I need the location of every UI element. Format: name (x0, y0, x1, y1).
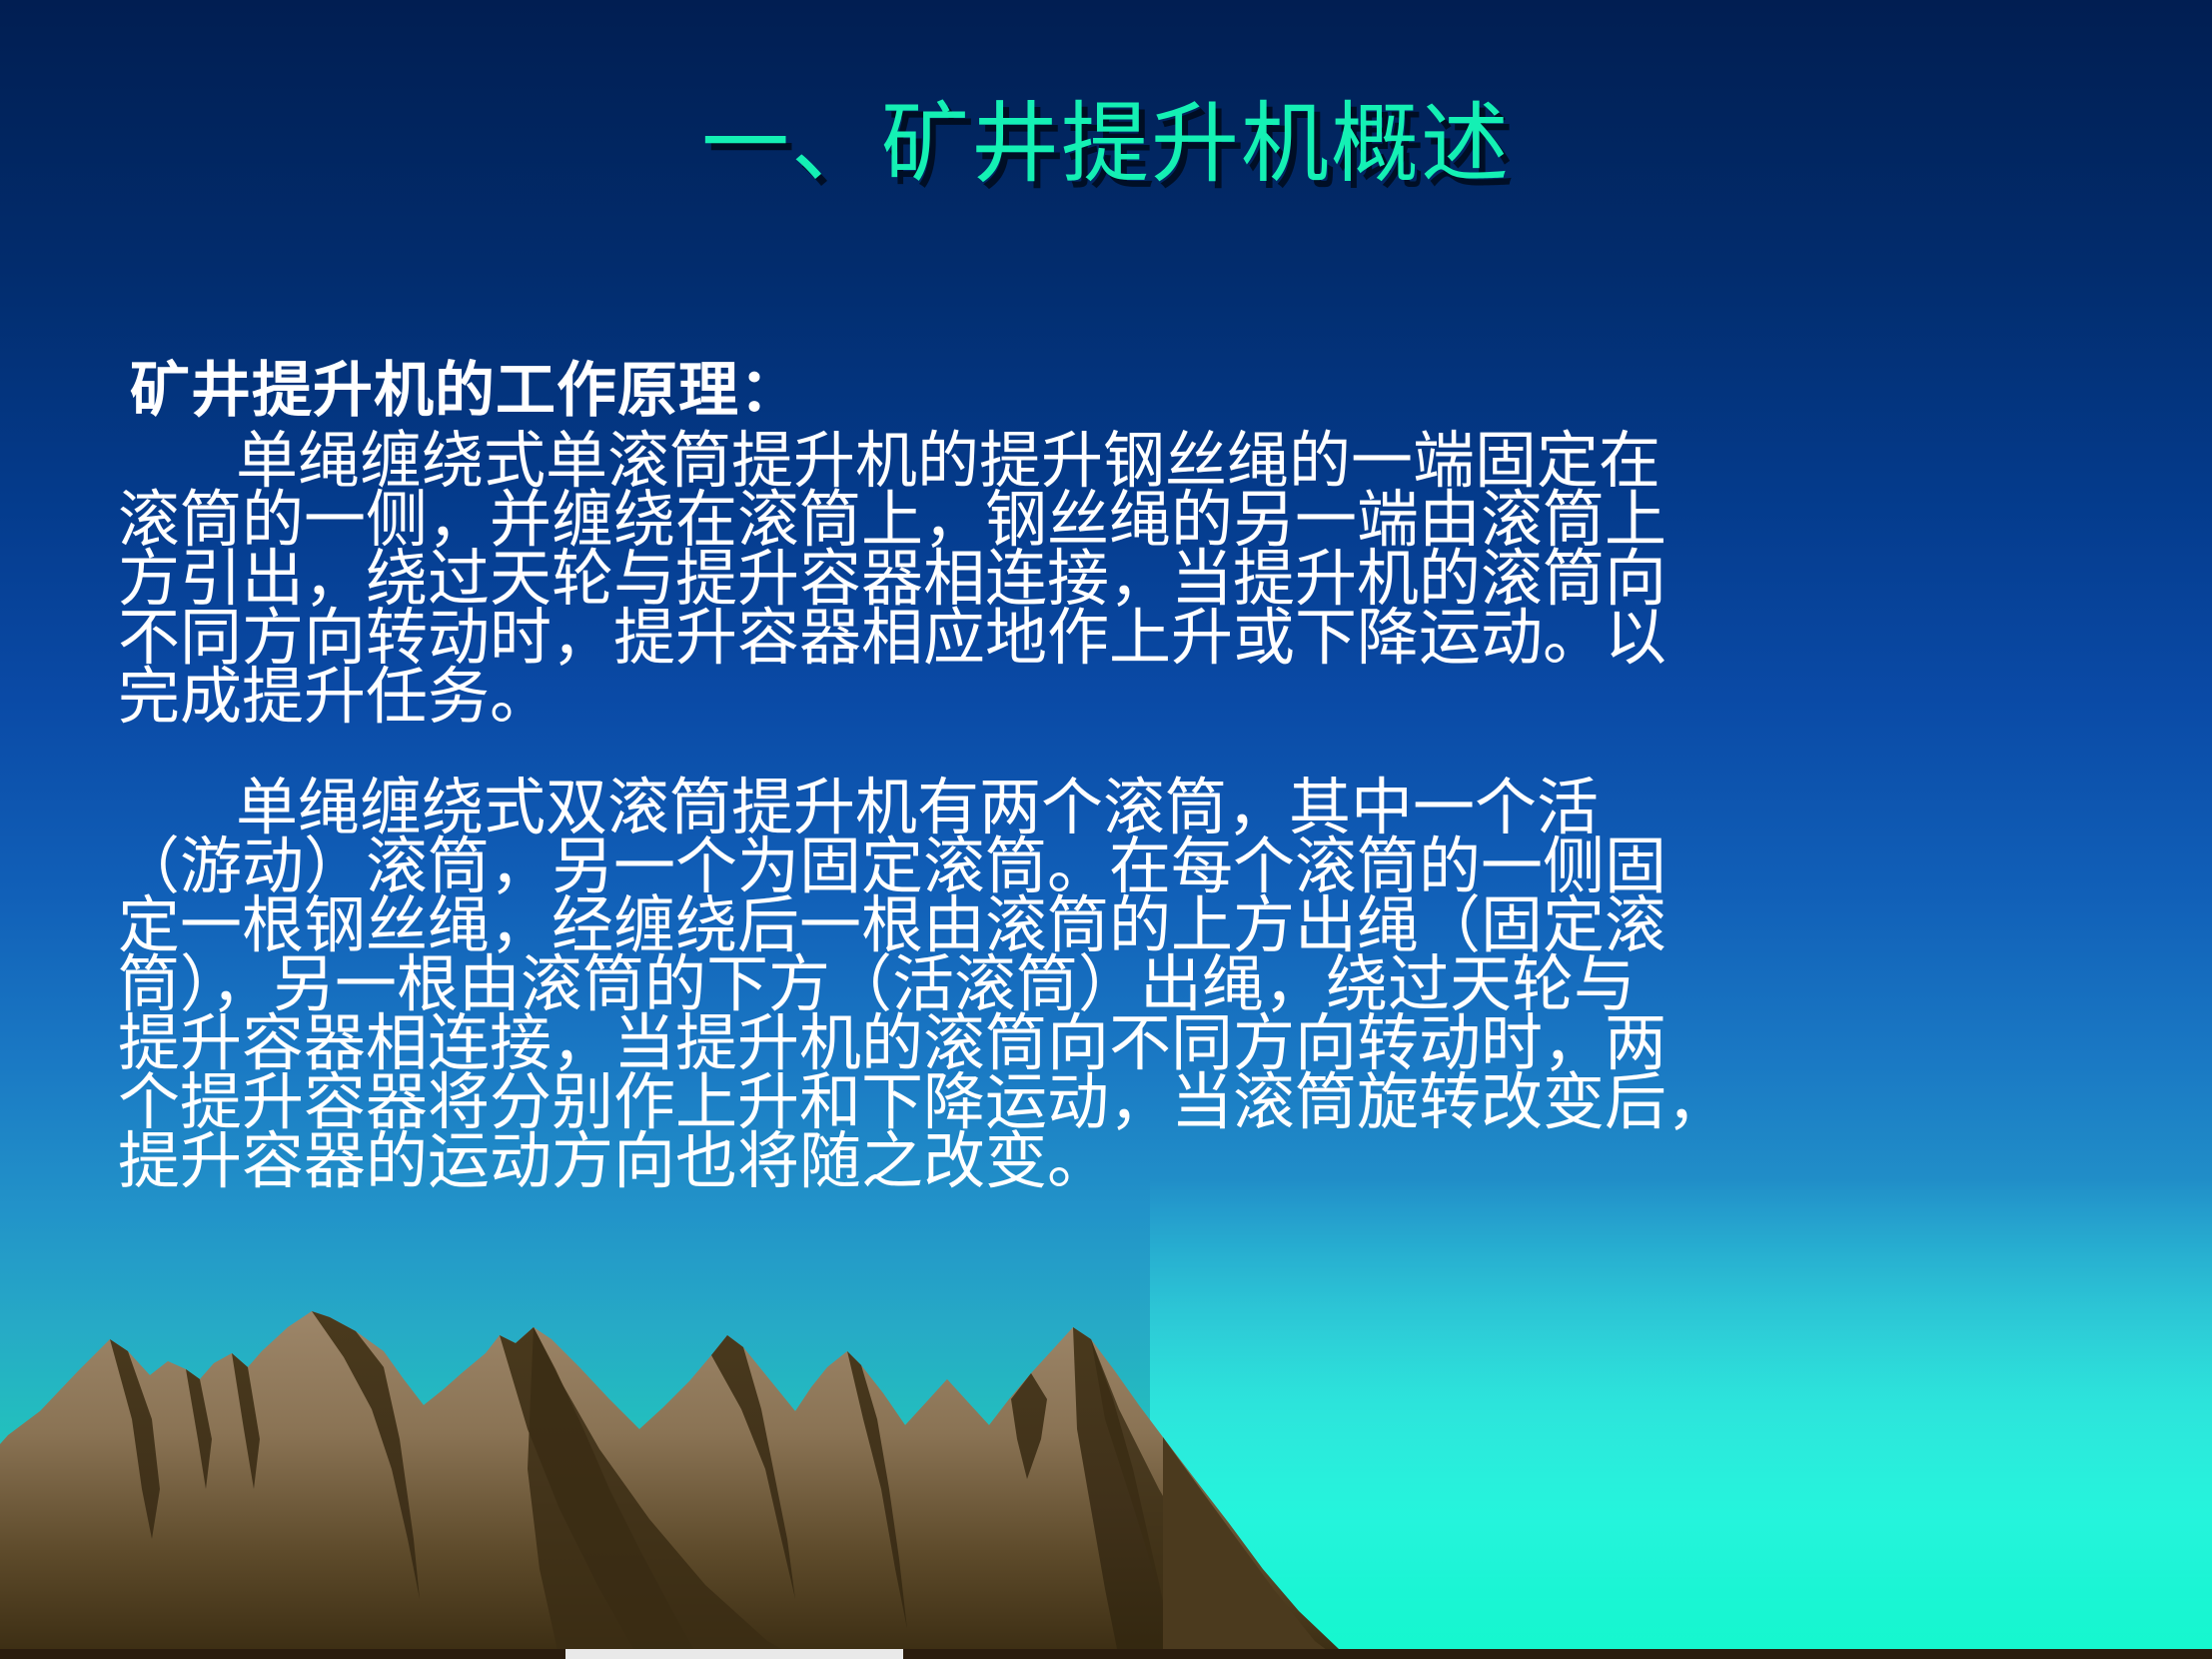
paragraph-line: 单绳缠绕式双滚筒提升机有两个滚筒，其中一个活 (118, 778, 2106, 836)
title-container: 一、矿井提升机概述 (0, 102, 2212, 190)
paragraph-line: （游动）滚筒，另一个为固定滚筒。在每个滚筒的一侧固 (118, 836, 2106, 895)
paragraph-line: 个提升容器将分别作上升和下降运动，当滚筒旋转改变后， (118, 1072, 2106, 1131)
slide-title: 一、矿井提升机概述 (701, 102, 1511, 190)
paragraph-line: 不同方向转动时，提升容器相应地作上升或下降运动。以 (118, 608, 2106, 667)
paragraph-spacer (118, 726, 2106, 778)
paragraph-line: 滚筒的一侧，并缠绕在滚筒上，钢丝绳的另一端由滚筒上 (118, 490, 2106, 549)
paragraph-single-drum: 单绳缠绕式单滚筒提升机的提升钢丝绳的一端固定在 滚筒的一侧，并缠绕在滚筒上，钢丝… (118, 431, 2106, 726)
paragraph-line: 单绳缠绕式单滚筒提升机的提升钢丝绳的一端固定在 (118, 431, 2106, 490)
paragraph-line: 完成提升任务。 (118, 667, 2106, 726)
slide-body: 矿井提升机的工作原理： 单绳缠绕式单滚筒提升机的提升钢丝绳的一端固定在 滚筒的一… (118, 358, 2106, 1190)
body-heading: 矿井提升机的工作原理： (130, 358, 2106, 425)
paragraph-line: 筒），另一根由滚筒的下方（活滚筒）出绳，绕过天轮与 (118, 954, 2106, 1013)
paragraph-double-drum: 单绳缠绕式双滚筒提升机有两个滚筒，其中一个活 （游动）滚筒，另一个为固定滚筒。在… (118, 778, 2106, 1190)
paragraph-line: 提升容器的运动方向也将随之改变。 (118, 1131, 2106, 1190)
paragraph-line: 定一根钢丝绳，经缠绕后一根由滚筒的上方出绳（固定滚 (118, 895, 2106, 954)
bottom-edge-notch (565, 1649, 903, 1659)
presentation-slide: 一、矿井提升机概述 矿井提升机的工作原理： 单绳缠绕式单滚筒提升机的提升钢丝绳的… (0, 0, 2212, 1659)
mountain-range-icon (0, 1239, 2212, 1659)
bottom-edge-strip (0, 1649, 2212, 1659)
paragraph-line: 提升容器相连接，当提升机的滚筒向不同方向转动时，两 (118, 1013, 2106, 1072)
paragraph-line: 方引出，绕过天轮与提升容器相连接，当提升机的滚筒向 (118, 549, 2106, 608)
